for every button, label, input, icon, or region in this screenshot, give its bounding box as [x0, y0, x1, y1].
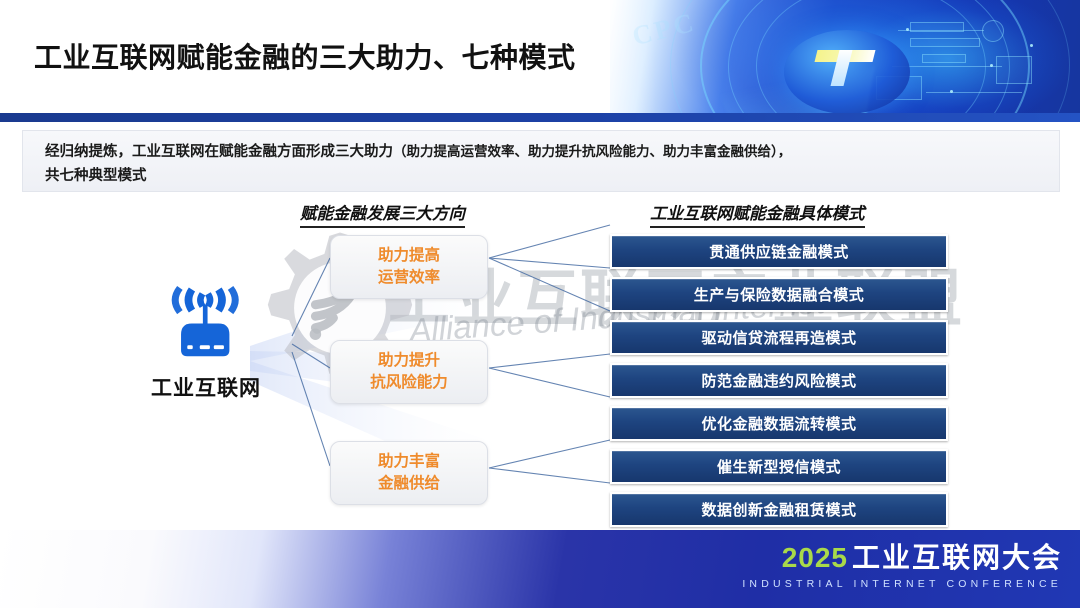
mode-box-3[interactable]: 驱动信贷流程再造模式: [610, 320, 948, 355]
mode-box-1[interactable]: 贯通供应链金融模式: [610, 234, 948, 269]
mode-box-5[interactable]: 优化金融数据流转模式: [610, 406, 948, 441]
circuit-line-3: [926, 92, 1022, 93]
heading-specific-modes: 工业互联网赋能金融具体模式: [650, 200, 865, 228]
summary-text-main: 经归纳提炼，工业互联网在赋能金融方面形成三大助力: [45, 144, 393, 160]
circuit-line-1: [898, 30, 984, 31]
conference-logo: 2025 工业互联网大会 INDUSTRIAL INTERNET CONFERE…: [742, 544, 1062, 590]
direction-card-3-line1: 助力丰富: [335, 451, 483, 473]
direction-card-2[interactable]: 助力提升 抗风险能力: [330, 340, 488, 404]
summary-callout-box: 经归纳提炼，工业互联网在赋能金融方面形成三大助力（助力提高运营效率、助力提升抗风…: [22, 130, 1060, 192]
page-title: 工业互联网赋能金融的三大助力、七种模式: [34, 36, 576, 76]
summary-text-parenthetical: （助力提高运营效率、助力提升抗风险能力、助力丰富金融供给），: [393, 144, 791, 159]
industrial-internet-node: 工业互联网: [122, 286, 290, 402]
summary-line-1: 经归纳提炼，工业互联网在赋能金融方面形成三大助力（助力提高运营效率、助力提升抗风…: [45, 140, 1045, 164]
conference-year: 2025: [782, 544, 848, 572]
circuit-dot-4: [1030, 44, 1033, 47]
slide-footer: 2025 工业互联网大会 INDUSTRIAL INTERNET CONFERE…: [0, 530, 1080, 608]
circuit-dot-3: [950, 90, 953, 93]
circuit-block-2: [910, 38, 980, 47]
direction-card-3[interactable]: 助力丰富 金融供给: [330, 441, 488, 505]
direction-card-3-line2: 金融供给: [335, 473, 483, 495]
summary-line-2: 共七种典型模式: [45, 164, 1045, 188]
circuit-block-3: [922, 54, 966, 63]
mode-box-7[interactable]: 数据创新金融租赁模式: [610, 492, 948, 527]
t-logo-icon: [816, 44, 874, 86]
header-tech-artwork: CPC: [610, 0, 1080, 113]
mode-box-6[interactable]: 催生新型授信模式: [610, 449, 948, 484]
circuit-block-4: [996, 56, 1032, 84]
slide-header: CPC 工业互联网赋能金融的三大助力、七种模式: [0, 0, 1080, 113]
industrial-internet-label: 工业互联网: [122, 372, 290, 402]
direction-card-1[interactable]: 助力提高 运营效率: [330, 235, 488, 299]
circuit-ring-1: [982, 20, 1004, 42]
heading-three-directions: 赋能金融发展三大方向: [300, 200, 465, 228]
circuit-dot-2: [990, 64, 993, 67]
diagram-canvas: 工业互联网产业联盟 Alliance of Industrial Interne…: [0, 196, 1080, 536]
mode-box-2[interactable]: 生产与保险数据融合模式: [610, 277, 948, 312]
conference-name-chinese: 工业互联网大会: [852, 544, 1062, 572]
mode-box-4[interactable]: 防范金融违约风险模式: [610, 363, 948, 398]
direction-card-2-line2: 抗风险能力: [335, 372, 483, 394]
header-divider-bar: [0, 113, 1080, 122]
conference-name-english: INDUSTRIAL INTERNET CONFERENCE: [742, 579, 1062, 590]
direction-card-2-line1: 助力提升: [335, 350, 483, 372]
direction-card-1-line2: 运营效率: [335, 267, 483, 289]
circuit-dot-1: [906, 28, 909, 31]
direction-card-1-line1: 助力提高: [335, 245, 483, 267]
slide-root: CPC 工业互联网赋能金融的三大助力、七种模式 经归纳提炼，工业互联网在赋: [0, 0, 1080, 608]
wifi-router-icon: [151, 286, 261, 364]
